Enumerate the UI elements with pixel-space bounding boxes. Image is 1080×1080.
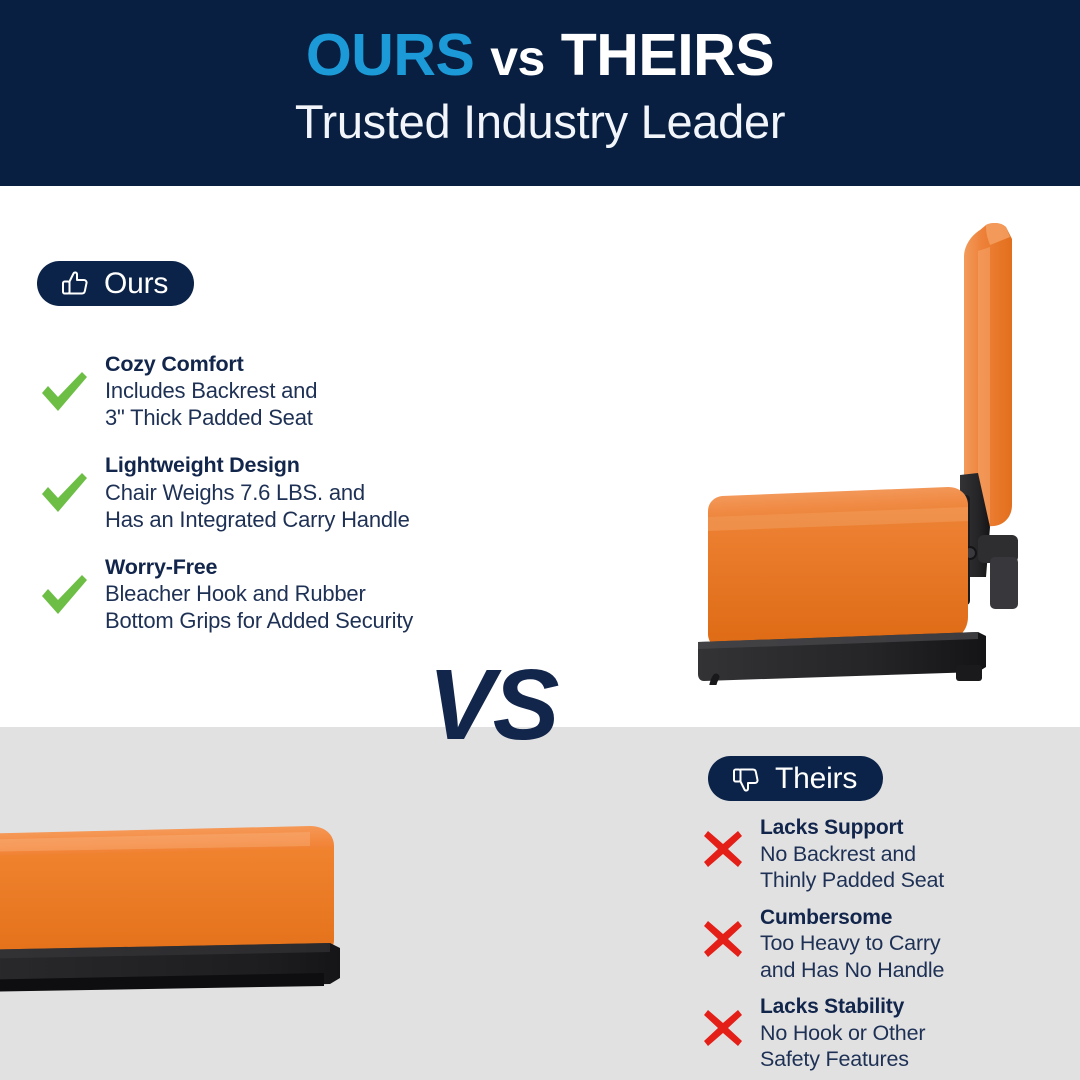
ours-feature-line-1a: Includes Backrest and <box>105 377 507 404</box>
flat-cushion-illustration <box>0 800 400 1030</box>
headline-theirs: THEIRS <box>561 22 774 88</box>
rubber-foot <box>956 665 982 681</box>
theirs-feature-line-2a: Too Heavy to Carry <box>760 930 1080 956</box>
theirs-feature-list: Lacks Support No Backrest and Thinly Pad… <box>700 816 1080 1080</box>
headline-vs: vs <box>490 30 545 86</box>
theirs-feature-text-2: Cumbersome Too Heavy to Carry and Has No… <box>760 906 1080 984</box>
theirs-feature-text-1: Lacks Support No Backrest and Thinly Pad… <box>760 816 1080 894</box>
header-banner: OURS vs THEIRS Trusted Industry Leader <box>0 0 1080 186</box>
cross-icon <box>700 1005 746 1051</box>
ours-feature-row-2: Lightweight Design Chair Weighs 7.6 LBS.… <box>37 453 507 532</box>
ours-feature-title-2: Lightweight Design <box>105 453 507 478</box>
theirs-feature-text-3: Lacks Stability No Hook or Other Safety … <box>760 995 1080 1073</box>
ours-feature-line-3a: Bleacher Hook and Rubber <box>105 580 507 607</box>
theirs-feature-title-3: Lacks Stability <box>760 995 1080 1020</box>
cross-icon <box>700 826 746 872</box>
theirs-feature-row-2: Cumbersome Too Heavy to Carry and Has No… <box>700 906 1080 984</box>
ours-feature-text-1: Cozy Comfort Includes Backrest and 3" Th… <box>105 352 507 431</box>
theirs-feature-title-2: Cumbersome <box>760 906 1080 931</box>
theirs-feature-line-1b: Thinly Padded Seat <box>760 867 1080 893</box>
ours-feature-text-3: Worry-Free Bleacher Hook and Rubber Bott… <box>105 555 507 634</box>
check-icon <box>37 569 91 623</box>
ours-feature-line-2a: Chair Weighs 7.6 LBS. and <box>105 479 507 506</box>
ours-feature-list: Cozy Comfort Includes Backrest and 3" Th… <box>37 352 507 656</box>
ours-feature-row-1: Cozy Comfort Includes Backrest and 3" Th… <box>37 352 507 431</box>
theirs-feature-row-1: Lacks Support No Backrest and Thinly Pad… <box>700 816 1080 894</box>
page-title: OURS vs THEIRS <box>306 26 774 85</box>
theirs-feature-line-3a: No Hook or Other <box>760 1020 1080 1046</box>
ours-feature-line-2b: Has an Integrated Carry Handle <box>105 506 507 533</box>
ours-feature-text-2: Lightweight Design Chair Weighs 7.6 LBS.… <box>105 453 507 532</box>
ours-badge-label: Ours <box>104 269 168 299</box>
thumbs-down-icon <box>730 763 762 795</box>
comparison-infographic: OURS vs THEIRS Trusted Industry Leader <box>0 0 1080 1080</box>
ours-feature-line-3b: Bottom Grips for Added Security <box>105 607 507 634</box>
theirs-feature-line-1a: No Backrest and <box>760 841 1080 867</box>
ours-feature-title-1: Cozy Comfort <box>105 352 507 377</box>
ours-feature-row-3: Worry-Free Bleacher Hook and Rubber Bott… <box>37 555 507 634</box>
ours-product-image <box>660 205 1080 685</box>
cushion-front <box>0 848 334 958</box>
theirs-badge[interactable]: Theirs <box>708 756 883 801</box>
hinge-lever <box>990 557 1018 609</box>
theirs-badge-label: Theirs <box>775 764 857 794</box>
vs-divider-label: VS <box>428 655 557 755</box>
check-icon <box>37 467 91 521</box>
theirs-feature-title-1: Lacks Support <box>760 816 1080 841</box>
headline-ours: OURS <box>306 22 474 88</box>
cross-icon <box>700 916 746 962</box>
theirs-feature-line-3b: Safety Features <box>760 1046 1080 1072</box>
theirs-feature-line-2b: and Has No Handle <box>760 957 1080 983</box>
ours-feature-title-3: Worry-Free <box>105 555 507 580</box>
ours-badge[interactable]: Ours <box>37 261 194 306</box>
thumbs-up-icon <box>59 268 91 300</box>
stadium-seat-illustration <box>660 205 1080 685</box>
theirs-product-image <box>0 800 400 1030</box>
theirs-feature-row-3: Lacks Stability No Hook or Other Safety … <box>700 995 1080 1073</box>
ours-feature-line-1b: 3" Thick Padded Seat <box>105 404 507 431</box>
check-icon <box>37 366 91 420</box>
page-subtitle: Trusted Industry Leader <box>295 97 785 146</box>
